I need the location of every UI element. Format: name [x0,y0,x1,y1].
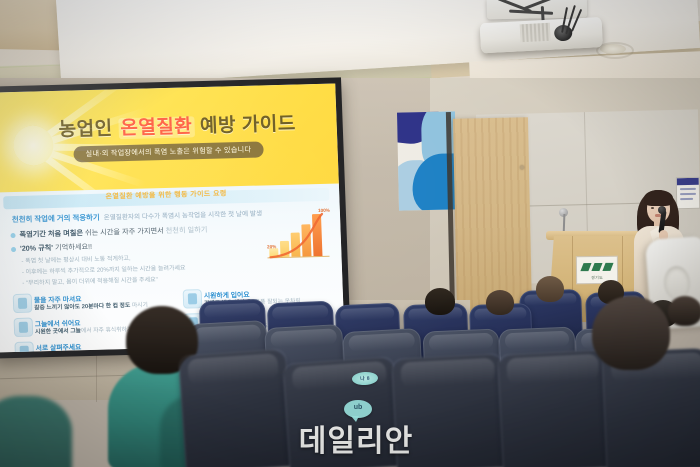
tip-desc-rest: 마시기 [130,303,148,309]
wood-door[interactable] [453,117,532,315]
tip-desc: 갈증 느끼기 않아도 20분마다 한 컵 정도 마시기 [34,300,148,312]
lecture-hall-photo: 농업인 온열질환 예방 가이드 실내·외 작업장에서의 폭염 노출은 위험할 수… [0,0,700,467]
chart-trend-curve [266,210,330,264]
projector-vent-icon [520,23,551,43]
ceiling-projector [478,0,611,65]
audience-head [486,290,514,315]
seat[interactable] [391,353,509,467]
presenter-bangs [644,190,673,206]
seat[interactable] [497,349,613,467]
tip-desc-em: 시원한 곳에서 그늘 [35,328,81,335]
slide-subline: - "무리하지 말고, 몸이 더위에 적응해질 시간을 주세요" [22,274,158,287]
presenter-eye [651,207,654,209]
tip-desc: 시원한 곳에서 그늘에서 자주 휴식취하기 [35,324,132,336]
audience-head [668,296,700,326]
umbrella-icon [14,318,34,337]
seat-number-label: 나 8 [360,375,370,382]
slide-title-suffix: 예방 가이드 [194,114,296,138]
audience-person-left [0,396,72,467]
audience-head [536,276,564,302]
chart-label-high: 100% [318,208,330,213]
tip-desc-em: 갈증 느끼기 않아도 20분마다 한 컵 정도 [34,303,130,312]
water-cup-icon [13,294,33,313]
door-handle-icon[interactable] [520,165,524,169]
slide-bullet-bold: 폭염기간 처음 며칠은 [19,228,83,239]
slide-bullet-rest: 기억하세요!! [53,242,92,252]
slide-header-banner: 농업인 온열질환 예방 가이드 실내·외 작업장에서의 폭염 노출은 위험할 수… [0,84,339,197]
seat[interactable] [178,348,294,467]
slide-bullet: 폭염기간 처음 며칠은 쉬는 시간을 자주 가지면서 천천히 일하기 [10,225,207,240]
wall-sign-header [677,178,699,185]
slide-bullet-faded: 천천히 일하기 [164,225,208,235]
seat[interactable] [282,356,401,467]
slide-bullet-bold: '20% 규칙' [20,243,53,253]
slide-lead-strong: 천천히 작업에 거의 적응하기 [12,213,100,224]
slide-bullet: '20% 규칙' 기억하세요!! [11,242,92,254]
bullet-dot-icon [10,233,15,238]
slide-title-highlight: 온열질환 [118,116,195,139]
bullet-dot-icon [11,247,16,252]
slide-mini-chart: 20% 100% [266,210,330,264]
audience-head [425,288,455,315]
slide-title: 농업인 온열질환 예방 가이드 [58,108,329,142]
podium-logo-mark [582,263,612,272]
slide-title-prefix: 농업인 [58,118,118,141]
slide-bullet-rest: 쉬는 시간을 자주 가지면서 [83,226,164,237]
slide-subline: - 폭염 첫 날에는 평상시 대비 노동 적게하고, [21,253,130,265]
tip-desc-rest: 에서 자주 휴식취하기 [81,327,132,334]
chart-label-low: 20% [267,244,276,249]
slide-subline: - 이후에는 하루씩 추가적으로 20%까지 일하는 시간을 늘려가세요 [22,263,186,276]
tip-desc-rest: 서로의 건강상태 살펴보기 [66,351,130,352]
people-icon [14,342,34,353]
slide-lead-rest: 온열질환자의 다수가 폭염시 농작업을 시작한 첫 날에 발생 [104,211,263,222]
audience-head [592,296,670,370]
microphone-head-icon [658,206,666,214]
shirt-icon [183,289,203,308]
